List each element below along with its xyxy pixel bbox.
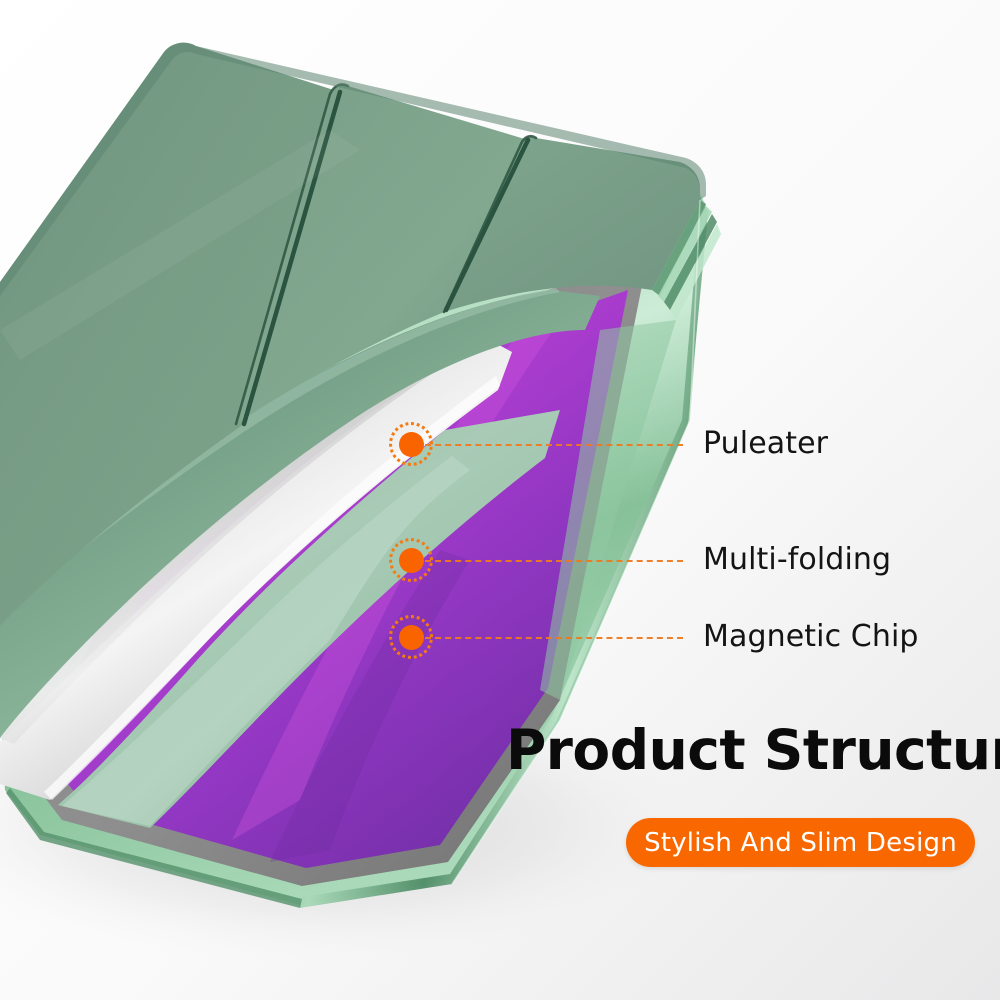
marker-dot-icon (399, 432, 424, 457)
tagline-badge: Stylish And Slim Design (626, 818, 975, 867)
leader-line-2 (425, 560, 683, 562)
marker-dot-icon (399, 625, 424, 650)
callout-marker-multi-folding[interactable] (389, 538, 433, 582)
callout-label-puleater: Puleater (703, 429, 828, 459)
product-structure-banner: Puleater Multi-folding Magnetic Chip Pro… (0, 0, 1000, 1000)
callout-marker-puleater[interactable] (389, 422, 433, 466)
tagline-badge-label: Stylish And Slim Design (644, 830, 957, 856)
callout-marker-magnetic-chip[interactable] (389, 615, 433, 659)
leader-line-1 (425, 444, 683, 446)
leader-line-3 (425, 637, 683, 639)
callout-label-magnetic-chip: Magnetic Chip (703, 622, 919, 652)
callout-label-multi-folding: Multi-folding (703, 545, 891, 575)
marker-dot-icon (399, 548, 424, 573)
page-title: Product Structure (506, 723, 1000, 778)
